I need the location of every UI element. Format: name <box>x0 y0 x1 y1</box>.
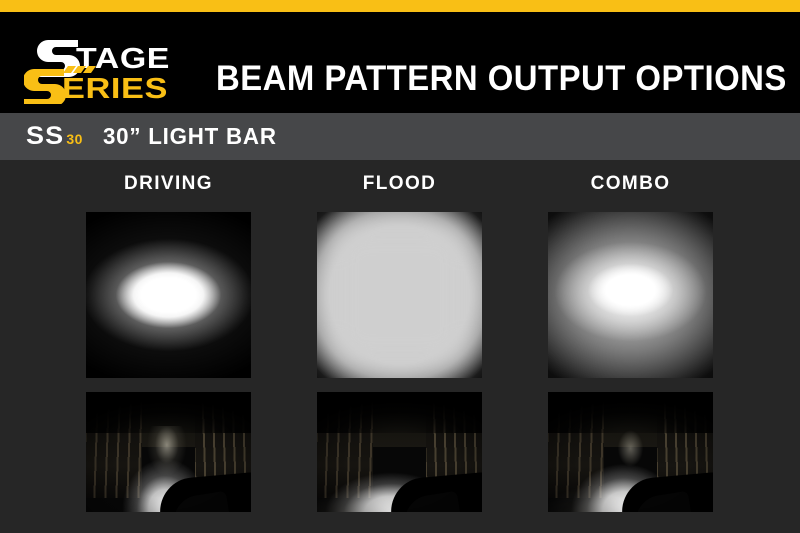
road-photo-driving <box>86 392 251 512</box>
product-subtitle-bar: SS 30 30” LIGHT BAR <box>0 113 800 160</box>
ss30-badge: SS 30 <box>26 122 83 151</box>
ss-badge-main: SS <box>26 122 64 151</box>
beam-pattern-driving <box>86 212 251 378</box>
road-photo-combo <box>548 392 713 512</box>
page-title: BEAM PATTERN OUTPUT OPTIONS <box>216 59 787 99</box>
photo-vignette <box>317 392 482 512</box>
accent-strip <box>0 0 800 12</box>
beam-glow-combo <box>548 212 713 378</box>
photo-vignette <box>548 392 713 512</box>
column-label-combo: COMBO <box>548 173 713 195</box>
svg-text:ERIES: ERIES <box>62 73 168 104</box>
ss-badge-subscript: 30 <box>66 131 83 147</box>
beam-pattern-combo <box>548 212 713 378</box>
beam-glow-driving <box>86 212 251 378</box>
beam-glow-flood <box>317 212 482 378</box>
column-label-flood: FLOOD <box>317 173 482 195</box>
stage-series-logo: TAGE ERIES <box>24 36 174 104</box>
header-band: TAGE ERIES BEAM PATTERN OUTPUT OPTIONS <box>0 12 800 113</box>
beam-pattern-infographic: TAGE ERIES BEAM PATTERN OUTPUT OPTIONS S… <box>0 0 800 533</box>
photo-vignette <box>86 392 251 512</box>
product-subtitle-text: 30” LIGHT BAR <box>103 123 277 150</box>
road-photo-flood <box>317 392 482 512</box>
beam-pattern-flood <box>317 212 482 378</box>
column-label-driving: DRIVING <box>86 173 251 195</box>
